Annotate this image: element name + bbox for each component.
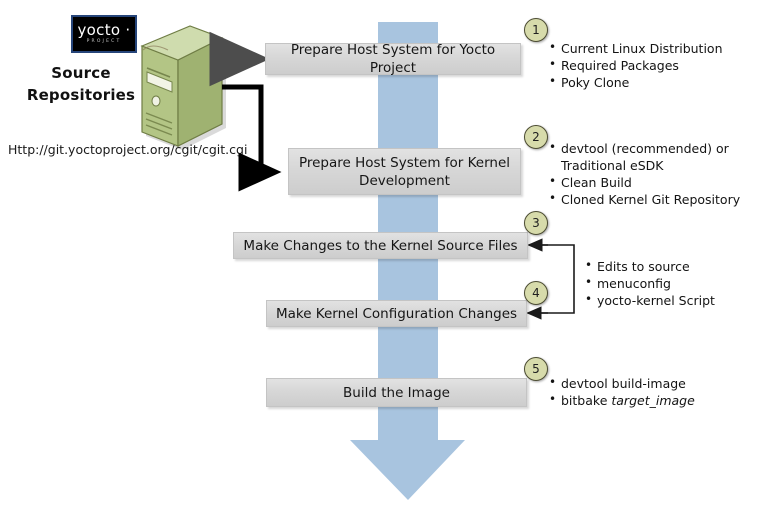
steps-3-4-bullets: Edits to source menuconfig yocto-kernel … (584, 258, 715, 309)
yocto-logo-subtext: PROJECT (87, 40, 122, 45)
connector-server-to-step2 (222, 87, 276, 172)
list-item: Required Packages (548, 57, 723, 74)
step-1-bullets: Current Linux Distribution Required Pack… (548, 40, 723, 91)
main-flow-arrow (350, 22, 465, 500)
step-1-box[interactable]: Prepare Host System for Yocto Project (265, 43, 521, 75)
list-item: menuconfig (584, 275, 715, 292)
list-item: Clean Build (548, 174, 740, 191)
step-badge-3-number: 3 (532, 216, 540, 230)
step-badge-1: 1 (524, 18, 548, 42)
list-item: devtool build-image (548, 375, 695, 392)
list-item: Edits to source (584, 258, 715, 275)
list-item: Cloned Kernel Git Repository (548, 191, 740, 208)
step-badge-4: 4 (524, 281, 548, 305)
step-badge-5-number: 5 (532, 362, 540, 376)
blue-down-arrow (350, 22, 465, 500)
list-item: yocto-kernel Script (584, 292, 715, 309)
server-tower-icon (142, 26, 226, 150)
step-3-box[interactable]: Make Changes to the Kernel Source Files (233, 232, 528, 259)
yocto-logo: yocto · PROJECT (71, 15, 137, 53)
bitbake-target-param: target_image (611, 393, 694, 408)
list-item: Current Linux Distribution (548, 40, 723, 57)
source-label-line2: Repositories (27, 86, 135, 104)
step-5-bullets: devtool build-image bitbake target_image (548, 375, 695, 409)
step-5-box-label: Build the Image (343, 384, 450, 402)
step-badge-3: 3 (524, 211, 548, 235)
list-item: devtool (recommended) or (548, 140, 740, 157)
connector-bracket-steps-3-4 (539, 245, 574, 313)
source-label-line1: Source (51, 64, 110, 82)
yocto-logo-text: yocto · (78, 23, 131, 38)
step-2-box-label-line1: Prepare Host System for Kernel (299, 154, 510, 172)
list-item-continuation: Traditional eSDK (548, 157, 740, 174)
list-item: Poky Clone (548, 74, 723, 91)
step-badge-2-number: 2 (532, 130, 540, 144)
step-3-box-label: Make Changes to the Kernel Source Files (243, 237, 517, 255)
source-repositories-label: Source Repositories (16, 62, 146, 106)
step-2-bullets: devtool (recommended) or Traditional eSD… (548, 140, 740, 208)
step-4-box[interactable]: Make Kernel Configuration Changes (266, 300, 527, 327)
step-2-box[interactable]: Prepare Host System for Kernel Developme… (288, 148, 521, 195)
step-badge-1-number: 1 (532, 23, 540, 37)
step-badge-4-number: 4 (532, 286, 540, 300)
step-4-box-label: Make Kernel Configuration Changes (276, 305, 517, 323)
step-2-box-label-line2: Development (359, 172, 450, 190)
bitbake-command: bitbake (561, 393, 611, 408)
source-repository-url: Http://git.yoctoproject.org/cgit/cgit.cg… (8, 142, 247, 157)
list-item: bitbake target_image (548, 392, 695, 409)
step-1-box-label: Prepare Host System for Yocto Project (272, 41, 514, 77)
step-5-box[interactable]: Build the Image (266, 378, 527, 407)
step-badge-5: 5 (524, 357, 548, 381)
step-badge-2: 2 (524, 125, 548, 149)
workflow-diagram: yocto · PROJECT Source Repos (0, 0, 769, 517)
